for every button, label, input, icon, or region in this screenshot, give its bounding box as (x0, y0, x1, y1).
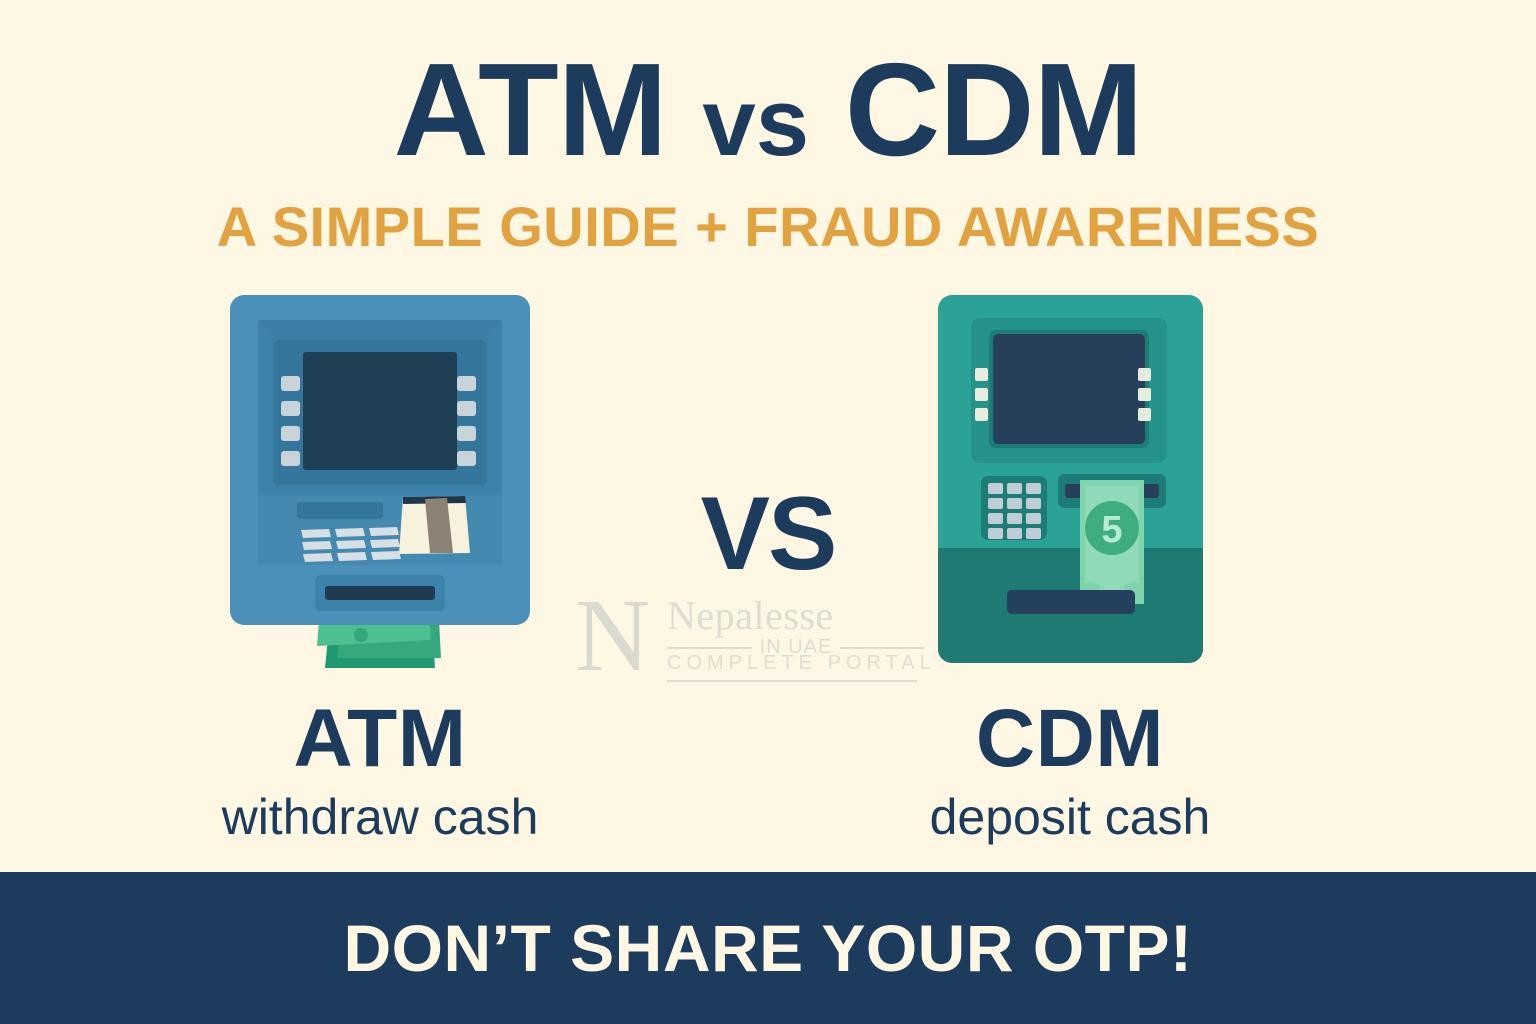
cdm-illustration: 5 (840, 290, 1300, 680)
page-title: ATM vs CDM (0, 44, 1536, 176)
atm-label: ATM (150, 698, 610, 780)
title-vs: vs (702, 69, 809, 176)
cdm-softkeys-right (1138, 368, 1151, 421)
warning-text: DON’T SHARE YOUR OTP! (343, 910, 1192, 986)
svg-text:5: 5 (1101, 509, 1122, 551)
atm-receipt (399, 496, 470, 554)
cdm-column: 5 CDM deposit cash (840, 290, 1300, 845)
cdm-machine-graphic: 5 (933, 290, 1208, 680)
atm-machine-graphic: $ (225, 290, 535, 680)
comparison-section: $ (0, 290, 1536, 850)
cdm-softkeys-left (975, 368, 988, 421)
atm-keypad (301, 527, 401, 562)
header-block: ATM vs CDM A SIMPLE GUIDE + FRAUD AWAREN… (0, 44, 1536, 259)
cdm-screen (993, 334, 1145, 444)
atm-description: withdraw cash (150, 790, 610, 845)
warning-banner: DON’T SHARE YOUR OTP! (0, 872, 1536, 1024)
title-cdm: CDM (845, 36, 1143, 183)
cdm-keypad (981, 476, 1047, 540)
atm-screen (303, 352, 457, 470)
cdm-label: CDM (840, 698, 1300, 780)
title-atm: ATM (394, 36, 667, 183)
page-subtitle: A SIMPLE GUIDE + FRAUD AWARENESS (0, 194, 1536, 259)
atm-column: $ (150, 290, 610, 845)
atm-illustration: $ (150, 290, 610, 680)
infographic-poster: ATM vs CDM A SIMPLE GUIDE + FRAUD AWAREN… (0, 0, 1536, 1024)
atm-card-slot (297, 502, 383, 519)
cdm-banknote: 5 (1080, 480, 1144, 604)
cdm-description: deposit cash (840, 790, 1300, 845)
cdm-vault-slot (1007, 590, 1135, 614)
